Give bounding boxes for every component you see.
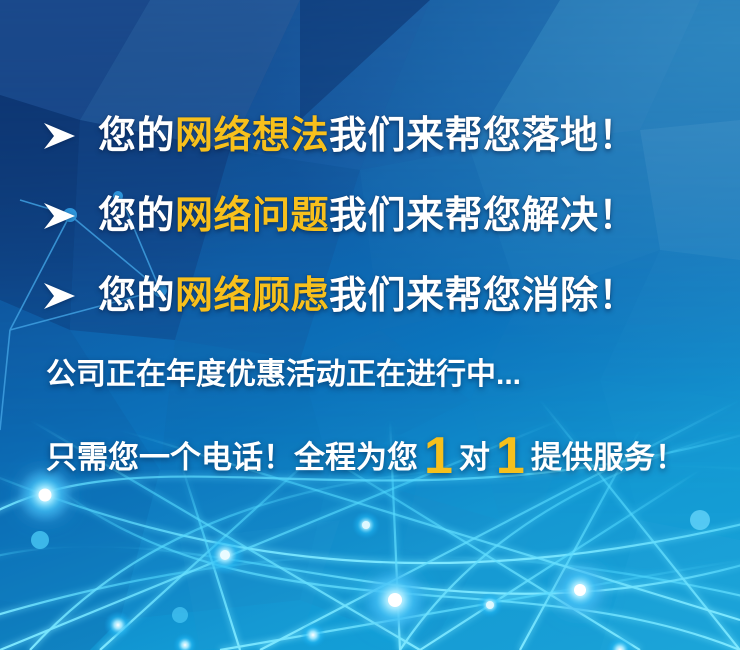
arrow-right-icon bbox=[42, 121, 76, 151]
arrow-right-icon bbox=[42, 201, 76, 231]
bullet-text: 您的网络问题我们来帮您解决！ bbox=[98, 197, 637, 235]
promo-line2-part2: 对 bbox=[459, 440, 490, 475]
banner-content: 您的网络想法我们来帮您落地！ 您的网络问题我们来帮您解决！ 您的网络顾虑我们来帮… bbox=[0, 0, 740, 650]
bullet-line: 您的网络想法我们来帮您落地！ bbox=[42, 96, 702, 176]
promo-number-one-a: 1 bbox=[424, 427, 453, 485]
bullet-line: 您的网络顾虑我们来帮您消除！ bbox=[42, 256, 702, 336]
bullet-prefix: 您的 bbox=[98, 275, 175, 317]
bullet-suffix: 我们来帮您消除！ bbox=[329, 275, 637, 317]
bullet-text: 您的网络顾虑我们来帮您消除！ bbox=[98, 277, 637, 315]
promo-line2-part3: 提供服务！ bbox=[531, 440, 686, 475]
promo-line2-part1: 只需您一个电话！全程为您 bbox=[46, 440, 418, 475]
bullet-highlight: 网络顾虑 bbox=[175, 275, 329, 317]
promo-line-2: 只需您一个电话！全程为您1对1提供服务！ bbox=[46, 442, 726, 473]
bullet-suffix: 我们来帮您落地！ bbox=[329, 115, 637, 157]
bullet-text: 您的网络想法我们来帮您落地！ bbox=[98, 117, 637, 155]
bullet-highlight: 网络想法 bbox=[175, 115, 329, 157]
bullet-suffix: 我们来帮您解决！ bbox=[329, 195, 637, 237]
bullet-line: 您的网络问题我们来帮您解决！ bbox=[42, 176, 702, 256]
promo-banner: 您的网络想法我们来帮您落地！ 您的网络问题我们来帮您解决！ 您的网络顾虑我们来帮… bbox=[0, 0, 740, 650]
promo-text-block: 公司正在年度优惠活动正在进行中... 只需您一个电话！全程为您1对1提供服务！ bbox=[46, 360, 726, 473]
promo-line-1: 公司正在年度优惠活动正在进行中... bbox=[46, 360, 726, 390]
bullet-list: 您的网络想法我们来帮您落地！ 您的网络问题我们来帮您解决！ 您的网络顾虑我们来帮… bbox=[42, 96, 702, 336]
bullet-prefix: 您的 bbox=[98, 115, 175, 157]
promo-number-one-b: 1 bbox=[496, 427, 525, 485]
bullet-prefix: 您的 bbox=[98, 195, 175, 237]
arrow-right-icon bbox=[42, 281, 76, 311]
bullet-highlight: 网络问题 bbox=[175, 195, 329, 237]
